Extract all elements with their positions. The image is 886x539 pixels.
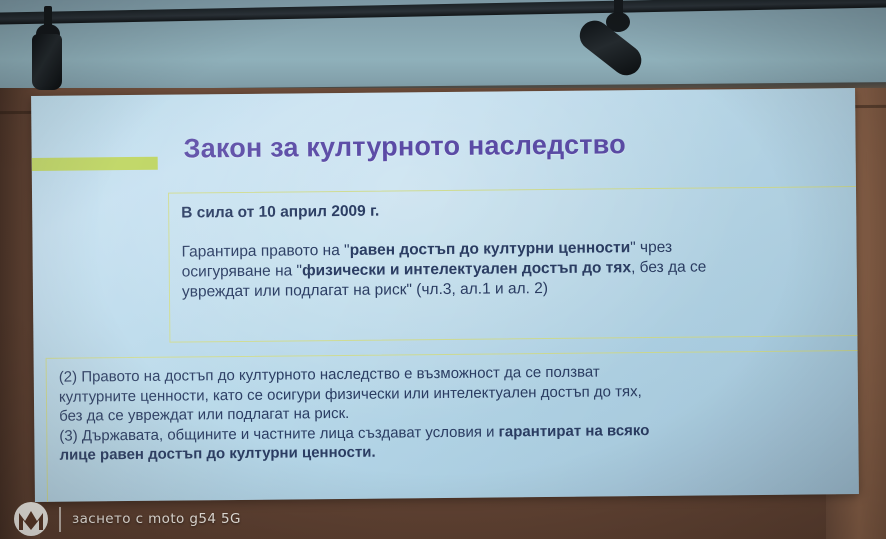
motorola-logo-icon: [14, 502, 48, 536]
track-light-left-icon: [8, 6, 88, 96]
textbox-primary: В сила от 10 април 2009 г. Гарантира пра…: [168, 186, 859, 343]
guarantee-line-2-a: осигуряване на ": [182, 263, 302, 281]
guarantee-line-2-bold: физически и интелектуален достъп до тях: [302, 259, 631, 279]
track-light-can: [32, 34, 62, 90]
track-light-right-icon: [570, 0, 680, 78]
projection-screen: Закон за културното наследство В сила от…: [31, 88, 859, 502]
guarantee-line-1-a: Гарантира правото на ": [181, 242, 349, 261]
textbox-secondary: (2) Правото на достъп до културното насл…: [46, 350, 859, 502]
clause3-line-1-bold: гарантират на всяко: [499, 422, 650, 440]
watermark-text: заснето с moto g54 5G: [72, 511, 241, 527]
guarantee-line-1-bold: равен достъп до културни ценности: [350, 239, 631, 259]
camera-watermark: заснето с moto g54 5G: [14, 501, 241, 537]
watermark-divider: [59, 507, 61, 532]
effective-date-line: В сила от 10 април 2009 г.: [181, 197, 844, 224]
photo-screenshot: Закон за културното наследство В сила от…: [0, 0, 886, 539]
slide-title: Закон за културното наследство: [183, 127, 823, 164]
guarantee-line-2-c: , без да се: [631, 259, 707, 277]
title-accent-bar: [32, 157, 158, 171]
guarantee-line-1-c: " чрез: [630, 239, 672, 256]
clause3-line-1-a: (3) Държавата, общините и частните лица …: [59, 423, 498, 444]
